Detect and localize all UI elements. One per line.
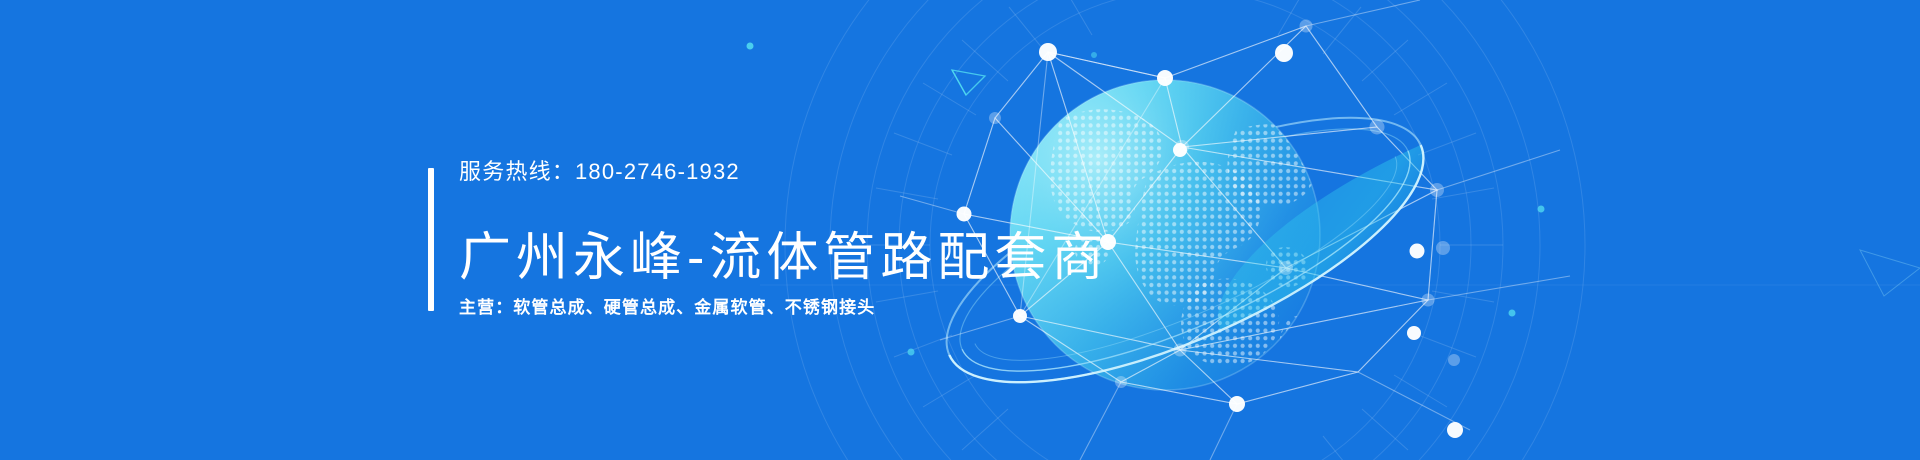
triangle-outline-icon [952,70,985,95]
cyan-dot [1538,206,1545,213]
cyan-dot [908,349,915,356]
cyan-dot [747,43,754,50]
banner-text-column: 服务热线：180-2746-1932 广州永峰-流体管路配套商 主营：软管总成、… [434,160,1108,319]
cyan-dot [1091,52,1097,58]
banner-subtitle: 主营：软管总成、硬管总成、金属软管、不锈钢接头 [459,298,1108,318]
banner-text-block: 服务热线：180-2746-1932 广州永峰-流体管路配套商 主营：软管总成、… [428,160,1108,319]
service-hotline: 服务热线：180-2746-1932 [459,160,1108,184]
banner-headline: 广州永峰-流体管路配套商 [459,230,1108,286]
cyan-dot [1509,310,1516,317]
promo-banner: 服务热线：180-2746-1932 广州永峰-流体管路配套商 主营：软管总成、… [0,0,1920,460]
triangle-outline-icon-right [1860,250,1920,296]
